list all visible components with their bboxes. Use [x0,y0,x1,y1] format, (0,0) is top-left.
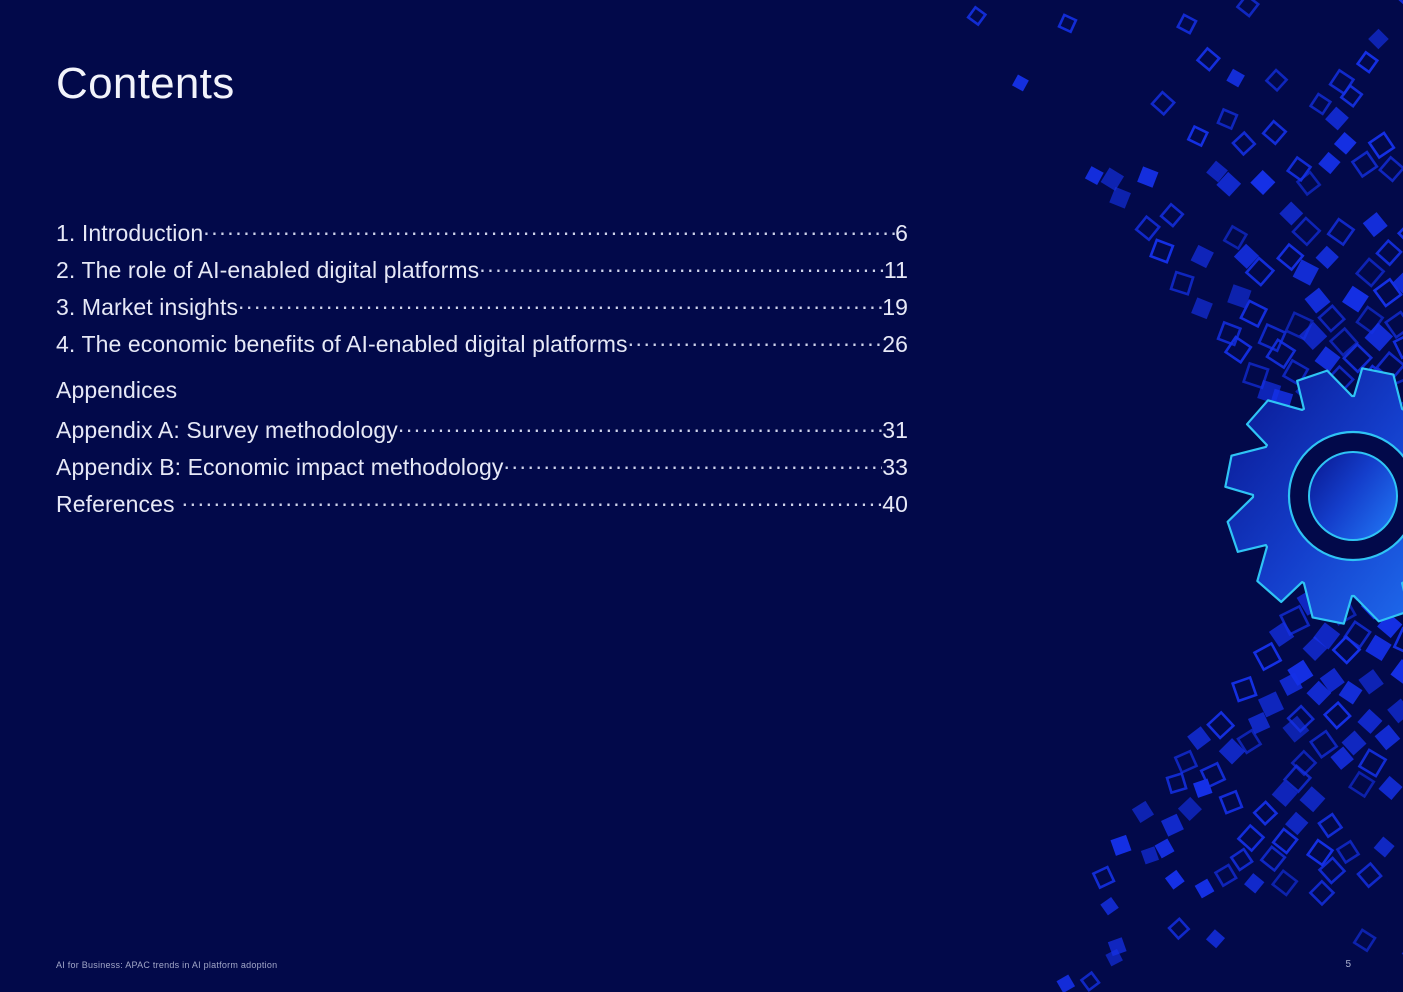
decorative-square [1250,170,1275,195]
decorative-square [1255,643,1281,669]
decorative-square [1329,598,1355,624]
decorative-square [1342,393,1369,420]
decorative-square [1187,726,1211,750]
decorative-square [1375,279,1402,306]
decorative-square [1394,628,1403,655]
decorative-square [1331,329,1358,356]
toc-entry-page-number: 26 [882,331,908,358]
decorative-square [1313,622,1340,649]
decorative-square [968,7,985,24]
decorative-square [1305,288,1331,314]
decorative-square [1012,75,1029,92]
toc-entry-label: Appendix A: Survey methodology [56,417,398,444]
decorative-square [1377,241,1401,265]
decorative-square [1238,730,1261,753]
decorative-square [1101,167,1124,190]
decorative-square [1364,323,1393,352]
decorative-square [1208,712,1233,737]
decorative-square [1392,377,1403,404]
decorative-square [1345,622,1370,647]
decorative-square [1110,835,1131,856]
decorative-square [1398,0,1403,8]
decorative-square [1358,52,1378,72]
decorative-square [1282,716,1309,743]
radial-square-burst-artwork [933,0,1403,992]
toc-entry[interactable]: Appendix B: Economic impact methodology3… [56,452,908,489]
decorative-square [1161,204,1183,226]
decorative-square [1309,393,1338,422]
decorative-square [1155,839,1175,859]
decorative-square [1269,622,1294,647]
decorative-square [1248,712,1270,734]
decorative-square [1298,172,1320,194]
decorative-square [1295,377,1323,405]
decorative-square [1363,212,1388,237]
footer-page-number: 5 [1345,959,1351,970]
decorative-square [1206,929,1225,948]
decorative-square [1320,668,1345,693]
decorative-square [1279,673,1302,696]
toc-entry-label: 3. Market insights [56,294,238,321]
decorative-square [1280,404,1306,430]
decorative-square [1378,776,1402,800]
decorative-square [1394,334,1403,358]
decorative-square [1391,586,1403,612]
decorative-square [1342,731,1367,756]
decorative-square [1178,15,1196,33]
decorative-square [1386,312,1403,337]
decorative-square [1085,166,1104,185]
decorative-square [1310,881,1333,904]
decorative-square [1390,659,1403,686]
decorative-square [1273,829,1297,853]
table-of-contents: 1. Introduction62. The role of AI-enable… [56,218,908,526]
decorative-square [1238,826,1263,851]
decorative-square [1195,879,1215,899]
decorative-square [1344,344,1371,371]
decorative-square [1281,606,1309,634]
decorative-square [1354,930,1375,951]
decorative-square [1059,15,1076,32]
toc-entry-label: References [56,491,175,518]
toc-entry[interactable]: Appendix A: Survey methodology31 [56,415,908,452]
decorative-square [1278,245,1303,270]
decorative-square [1169,919,1189,939]
decorative-square [1337,841,1358,862]
decorative-square [1374,837,1395,858]
decorative-square [1165,870,1185,890]
toc-entry[interactable]: References40 [56,489,908,526]
decorative-square [1224,226,1246,248]
decorative-square [1237,0,1258,16]
decorative-square [1380,157,1403,181]
decorative-square [1319,306,1344,331]
toc-entry-label: 4. The economic benefits of AI-enabled d… [56,331,628,358]
decorative-square [1198,48,1220,70]
toc-entry-page-number: 33 [882,454,908,481]
decorative-square [1310,569,1337,596]
decorative-square [1219,738,1245,764]
footer-note: AI for Business: APAC trends in AI platf… [56,960,277,970]
decorative-square [1206,161,1228,183]
decorative-square [1288,706,1313,731]
decorative-square [1333,637,1359,663]
decorative-square [1365,635,1391,661]
decorative-square [1357,259,1384,286]
decorative-square [1343,573,1369,599]
decorative-square [1342,286,1369,313]
toc-entry-page-number: 31 [882,417,908,444]
decorative-square [1352,152,1376,176]
decorative-square [1093,867,1114,888]
decorative-square [1259,325,1285,351]
decorative-square [1330,746,1353,769]
decorative-square [1233,133,1255,155]
decorative-square [1318,152,1340,174]
decorative-square [1279,202,1303,226]
decorative-square [1137,166,1158,187]
decorative-square [1387,699,1403,724]
decorative-square [1136,217,1159,240]
decorative-square [1299,786,1325,812]
square-particles-group [968,0,1403,992]
decorative-square [1359,750,1385,776]
decorative-square [1319,814,1342,837]
decorative-square [1303,636,1328,661]
toc-entry-label: 1. Introduction [56,220,203,247]
decorative-square [1258,691,1284,717]
decorative-square [1216,172,1241,197]
decorative-square [1293,259,1319,285]
toc-entry-label: 2. The role of AI-enabled digital platfo… [56,257,479,284]
decorative-square [1286,313,1312,339]
decorative-square [1368,29,1389,50]
decorative-square [1330,70,1353,93]
decorative-square [1231,849,1252,870]
decorative-square [1311,94,1331,114]
decorative-square [1316,246,1339,269]
decorative-square [1226,337,1251,362]
decorative-square [1218,110,1237,129]
decorative-square [1375,725,1401,751]
document-page: Contents 1. Introduction62. The role of … [0,0,1403,992]
toc-entry[interactable]: 2. The role of AI-enabled digital platfo… [56,255,908,292]
toc-entry[interactable]: 4. The economic benefits of AI-enabled d… [56,329,908,366]
decorative-square [1311,731,1337,757]
toc-dot-leader [182,489,883,512]
toc-dot-leader [238,292,882,315]
decorative-square [1358,669,1383,694]
toc-dot-leader [203,218,895,241]
decorative-square [1285,812,1308,835]
toc-entry-page-number: 6 [895,220,908,247]
decorative-square [1320,858,1345,883]
toc-dot-leader [398,415,882,438]
decorative-square [1284,360,1308,384]
decorative-square [1193,778,1212,797]
decorative-square [1269,389,1293,413]
decorative-square [1218,322,1240,344]
decorative-square [1293,218,1320,245]
decorative-square [1361,366,1387,392]
decorative-square [1398,553,1403,580]
toc-entry[interactable]: 3. Market insights19 [56,292,908,329]
decorative-square [1266,70,1286,90]
decorative-square [1325,107,1349,131]
decorative-square [1328,219,1353,244]
decorative-square [1109,187,1131,209]
decorative-square [1288,158,1311,181]
decorative-square [1178,797,1202,821]
decorative-square [1273,871,1297,895]
decorative-square [1399,220,1403,247]
decorative-square [1056,974,1075,992]
decorative-square [1171,272,1193,294]
decorative-square [1233,677,1256,700]
decorative-square [1315,346,1341,372]
decorative-square [1244,363,1268,387]
decorative-square [1246,258,1273,285]
decorative-square [1108,937,1127,956]
decorative-square [1191,297,1213,319]
decorative-square [1105,949,1122,966]
decorative-square [1191,245,1214,268]
toc-entry-label: Appendices [56,377,177,404]
decorative-square [1373,571,1400,598]
toc-entry-label: Appendix B: Economic impact methodology [56,454,504,481]
decorative-square [1339,681,1363,705]
decorative-square [1132,801,1154,823]
decorative-square [1152,92,1174,114]
decorative-square [1292,751,1315,774]
toc-dot-leader [504,452,883,475]
decorative-square [1308,840,1333,865]
decorative-square [1263,121,1286,144]
page-title: Contents [56,62,235,106]
decorative-square [1161,814,1184,837]
decorative-square [1226,69,1245,88]
decorative-square [1306,681,1331,706]
decorative-square [1267,340,1295,368]
decorative-square [1325,703,1350,728]
decorative-square [1357,307,1383,333]
gear-icon [1225,368,1403,623]
decorative-square [1100,897,1118,915]
decorative-square [1257,380,1281,404]
toc-dot-leader [628,329,883,352]
decorative-square [1081,973,1099,991]
decorative-square [1254,802,1276,824]
decorative-square [1341,86,1361,106]
decorative-square [1188,127,1207,146]
toc-entry-page-number: 40 [882,491,908,518]
decorative-square [1287,660,1313,686]
decorative-square [1377,613,1402,638]
decorative-square [1244,873,1264,893]
decorative-square [1361,593,1388,620]
decorative-square [1216,865,1237,886]
decorative-square [1392,271,1403,295]
decorative-square [1285,766,1311,792]
decorative-square [1234,244,1259,269]
toc-entry-page-number: 19 [882,294,908,321]
toc-entry[interactable]: 1. Introduction6 [56,218,908,255]
toc-entry-page-number: 11 [884,257,908,284]
decorative-square [1272,781,1298,807]
decorative-square [1334,132,1357,155]
decorative-square [1357,709,1382,734]
decorative-square [1220,791,1242,813]
decorative-square [1261,847,1285,871]
decorative-square [1369,133,1394,158]
decorative-square [1151,240,1173,262]
decorative-square [1327,367,1354,394]
toc-section-heading: Appendices [56,377,908,414]
decorative-square [1350,772,1374,796]
decorative-square [1141,846,1159,864]
decorative-square [1241,301,1267,327]
decorative-square [1299,322,1327,350]
decorative-square [1358,864,1381,887]
decorative-square [1374,400,1400,426]
decorative-square [1175,751,1196,772]
toc-dot-leader [479,255,884,278]
decorative-square [1377,353,1403,380]
decorative-square [1167,774,1186,793]
decorative-square [1297,587,1326,616]
decorative-square [1227,284,1251,308]
decorative-square [1201,763,1225,787]
